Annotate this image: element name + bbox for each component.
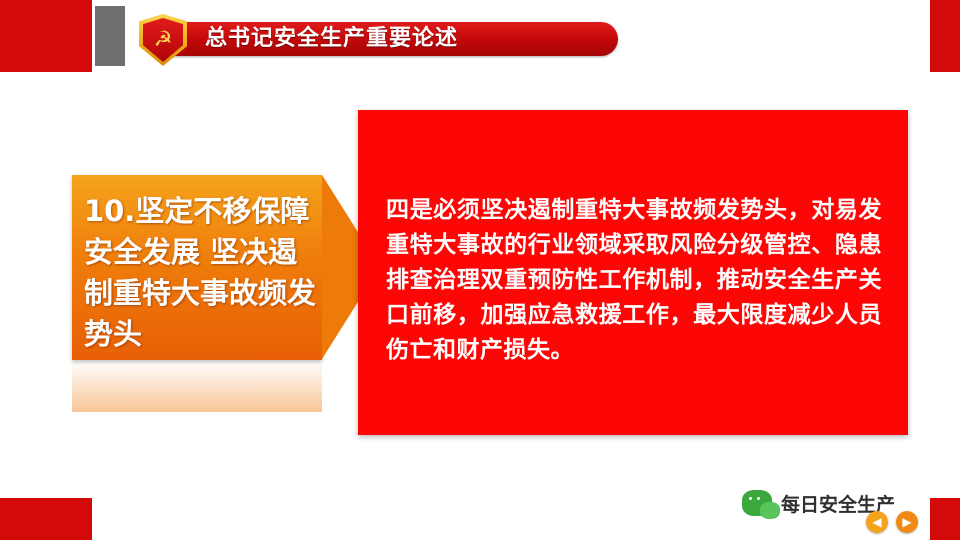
hammer-sickle-icon: ☭ (150, 27, 176, 51)
header-title: 总书记安全生产重要论述 (205, 24, 625, 54)
footer-left-red-block (0, 498, 92, 540)
wechat-icon (742, 490, 772, 516)
next-slide-button[interactable]: ▶ (896, 511, 918, 533)
party-emblem-icon: ☭ (133, 12, 193, 68)
section-title: 10.坚定不移保障安全发展 坚决遏制重特大事故频发势头 (84, 191, 322, 355)
header-band: ☭ 总书记安全生产重要论述 (0, 0, 960, 72)
header-left-red-block (0, 0, 92, 72)
slide-canvas: ☭ 总书记安全生产重要论述 10.坚定不移保障安全发展 坚决遏制重特大事故频发势… (0, 0, 960, 540)
arrow-reflection (72, 360, 322, 412)
header-right-red-block (930, 0, 960, 72)
prev-slide-button[interactable]: ◀ (866, 511, 888, 533)
section-arrow-callout: 10.坚定不移保障安全发展 坚决遏制重特大事故频发势头 (72, 175, 362, 360)
slide-navigation: ◀ ▶ (866, 511, 936, 535)
content-body-text: 四是必须坚决遏制重特大事故频发势头，对易发重特大事故的行业领域采取风险分级管控、… (386, 193, 882, 368)
header-gray-bar (95, 6, 125, 66)
